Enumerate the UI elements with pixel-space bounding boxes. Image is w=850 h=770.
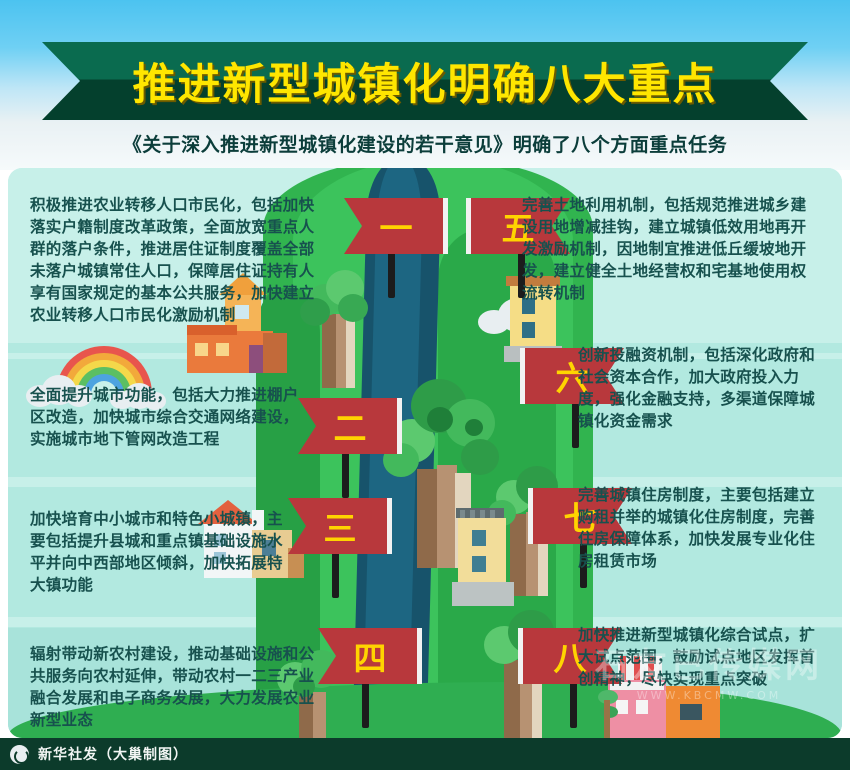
title-ribbon: 推进新型城镇化明确八大重点: [42, 42, 808, 120]
footer-bar: 新华社发（大巢制图）: [0, 738, 850, 770]
item-text-5: 完善土地利用机制，包括规范推进城乡建设用地增减挂钩，建立城镇低效用地再开发激励机…: [522, 194, 822, 304]
item-text-6: 创新投融资机制，包括深化政府和社会资本合作，加大政府投入力度，强化金融支持，多渠…: [578, 344, 826, 432]
item-text-3: 加快培育中小城市和特色小城镇，主要包括提升县城和重点镇基础设施水平并向中西部地区…: [30, 508, 292, 596]
page-subtitle: 《关于深入推进新型城镇化建设的若干意见》明确了八个方面重点任务: [0, 130, 850, 157]
house-tower-center: [448, 508, 522, 606]
infographic-root: 推进新型城镇化明确八大重点 《关于深入推进新型城镇化建设的若干意见》明确了八个方…: [0, 0, 850, 770]
item-text-1: 积极推进农业转移人口市民化，包括加快落实户籍制度改革政策，全面放宽重点人群的落户…: [30, 194, 326, 326]
item-text-7: 完善城镇住房制度，主要包括建立购租并举的城镇化住房制度，完善住房保障体系，加快发…: [578, 484, 828, 572]
xinhua-circle-logo-icon: [10, 745, 29, 764]
content-card: 一 二 三 四 五 六 七: [8, 168, 842, 738]
flagpole-2: [342, 450, 349, 498]
footer-credit: 新华社发（大巢制图）: [38, 744, 188, 764]
flagpole-3: [332, 550, 339, 598]
item-text-8: 加快推进新型城镇化综合试点，扩大试点范围，鼓励试点地区发挥首创精神，尽快实现重点…: [578, 624, 828, 690]
flag-edge-3: [387, 498, 392, 554]
flagpole-4: [362, 680, 369, 728]
item-text-4: 辐射带动新农村建设，推动基础设施和公共服务向农村延伸，带动农村一二三产业融合发展…: [30, 643, 320, 731]
flagpole-8: [570, 680, 577, 728]
item-text-2: 全面提升城市功能，包括大力推进棚户区改造，加快城市综合交通网络建设，实施城市地下…: [30, 384, 308, 450]
flag-edge-8: [518, 628, 523, 684]
flag-edge-2: [397, 398, 402, 454]
flagpole-1: [388, 250, 395, 298]
page-title: 推进新型城镇化明确八大重点: [42, 42, 808, 120]
flag-edge-6: [520, 348, 525, 404]
flag-edge-7: [528, 488, 533, 544]
flag-edge-5: [466, 198, 471, 254]
flag-edge-4: [417, 628, 422, 684]
flag-edge-1: [443, 198, 448, 254]
